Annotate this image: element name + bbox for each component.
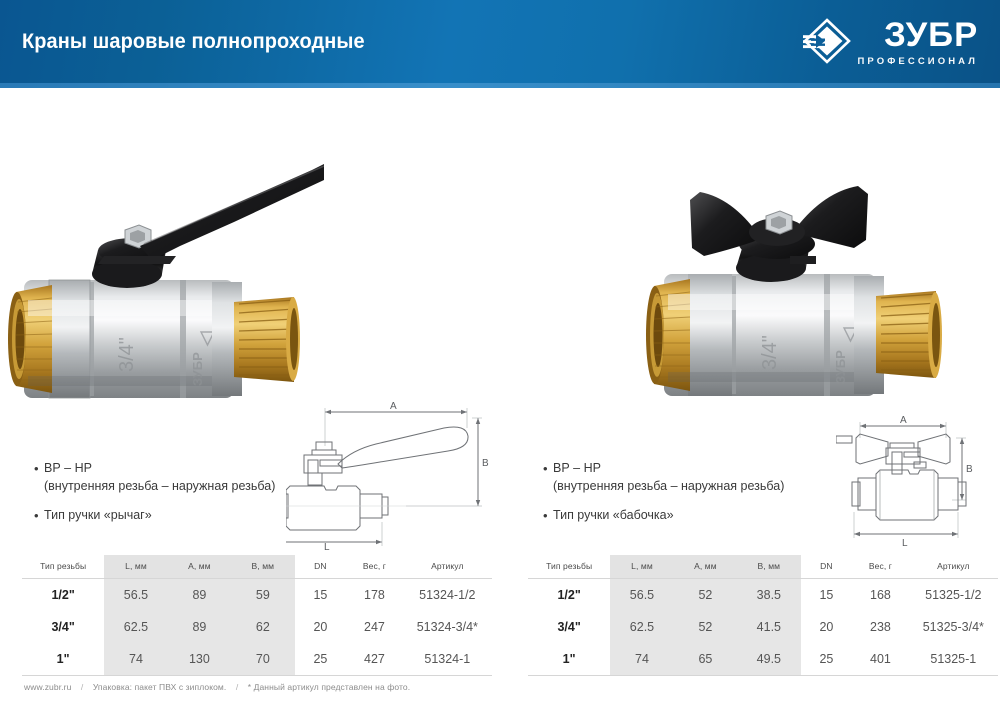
cell-thread: 1" xyxy=(22,643,104,676)
list-item: • Тип ручки «рычаг» xyxy=(34,507,294,525)
svg-text:ЗУБР: ЗУБР xyxy=(190,352,205,386)
dim-label-l: L xyxy=(902,538,908,549)
bullet-point-icon: • xyxy=(34,460,44,496)
cell-b: 41.5 xyxy=(737,611,800,643)
datasheet-page: Краны шаровые полнопроходные ЗУБР ПРОФЕС… xyxy=(0,0,1000,707)
column-header-l: L, мм xyxy=(104,555,167,579)
cell-a: 130 xyxy=(168,643,231,676)
list-item: • ВР – НР (внутренняя резьба – наружная … xyxy=(34,460,294,496)
footer-note: * Данный артикул представлен на фото. xyxy=(248,682,410,692)
column-header-thread: Тип резьбы xyxy=(528,555,610,579)
feature-sub-text: (внутренняя резьба – наружная резьба) xyxy=(553,478,813,496)
list-item: • Тип ручки «бабочка» xyxy=(543,507,813,525)
table-row: 1/2" 56.5 89 59 15 178 51324-1/2 xyxy=(22,579,492,612)
cell-article: 51324-1/2 xyxy=(403,579,492,612)
cell-article: 51325-1/2 xyxy=(909,579,998,612)
dim-label-l: L xyxy=(324,542,330,550)
zubr-diamond-arrow-logo-icon xyxy=(803,18,851,64)
cell-l: 74 xyxy=(104,643,167,676)
cell-article: 51325-1 xyxy=(909,643,998,676)
column-header-article: Артикул xyxy=(403,555,492,579)
cell-article: 51324-1 xyxy=(403,643,492,676)
cell-l: 62.5 xyxy=(104,611,167,643)
dim-label-a: A xyxy=(900,415,907,426)
cell-b: 38.5 xyxy=(737,579,800,612)
cell-dn: 25 xyxy=(801,643,853,676)
cell-l: 74 xyxy=(610,643,673,676)
column-header-b: B, мм xyxy=(737,555,800,579)
cell-weight: 238 xyxy=(852,611,908,643)
page-footer: www.zubr.ru / Упаковка: пакет ПВХ с зипл… xyxy=(24,682,410,692)
table-row: 3/4" 62.5 89 62 20 247 51324-3/4* xyxy=(22,611,492,643)
features-list-lever: • ВР – НР (внутренняя резьба – наружная … xyxy=(34,460,294,535)
feature-sub-text: (внутренняя резьба – наружная резьба) xyxy=(44,478,294,496)
logo-tagline: ПРОФЕССИОНАЛ xyxy=(857,56,978,67)
spec-table-butterfly: Тип резьбы L, мм A, мм B, мм DN Вес, г А… xyxy=(528,555,998,676)
cell-thread: 1/2" xyxy=(528,579,610,612)
page-header: Краны шаровые полнопроходные ЗУБР ПРОФЕС… xyxy=(0,0,1000,88)
cell-weight: 168 xyxy=(852,579,908,612)
footer-website[interactable]: www.zubr.ru xyxy=(24,682,71,692)
cell-weight: 178 xyxy=(346,579,402,612)
cell-a: 89 xyxy=(168,579,231,612)
cell-a: 52 xyxy=(674,611,737,643)
cell-weight: 401 xyxy=(852,643,908,676)
cell-l: 56.5 xyxy=(104,579,167,612)
column-header-l: L, мм xyxy=(610,555,673,579)
cell-weight: 247 xyxy=(346,611,402,643)
logo-text-group: ЗУБР ПРОФЕССИОНАЛ xyxy=(857,18,978,67)
cell-thread: 3/4" xyxy=(528,611,610,643)
cell-b: 59 xyxy=(231,579,294,612)
bullet-point-icon: • xyxy=(543,507,553,525)
cell-b: 70 xyxy=(231,643,294,676)
cell-l: 56.5 xyxy=(610,579,673,612)
feature-main-text: Тип ручки «рычаг» xyxy=(44,508,152,522)
product-photo-lever: 3/4" ЗУБР xyxy=(0,104,324,424)
footer-packaging: Упаковка: пакет ПВХ с зиплоком. xyxy=(93,682,227,692)
cell-l: 62.5 xyxy=(610,611,673,643)
cell-b: 49.5 xyxy=(737,643,800,676)
dim-label-b: B xyxy=(482,458,489,469)
cell-thread: 1/2" xyxy=(22,579,104,612)
svg-text:ЗУБР: ЗУБР xyxy=(833,350,848,384)
column-header-weight: Вес, г xyxy=(346,555,402,579)
cell-dn: 20 xyxy=(801,611,853,643)
cell-thread: 3/4" xyxy=(22,611,104,643)
product-photo-butterfly: 3/4" ЗУБР xyxy=(640,156,950,424)
features-list-butterfly: • ВР – НР (внутренняя резьба – наружная … xyxy=(543,460,813,535)
column-header-a: A, мм xyxy=(674,555,737,579)
spec-table-lever: Тип резьбы L, мм A, мм B, мм DN Вес, г А… xyxy=(22,555,492,676)
cell-dn: 15 xyxy=(295,579,347,612)
footer-separator: / xyxy=(236,682,238,692)
column-header-weight: Вес, г xyxy=(852,555,908,579)
brand-logo: ЗУБР ПРОФЕССИОНАЛ xyxy=(803,18,978,70)
bullet-point-icon: • xyxy=(543,460,553,496)
feature-main-text: Тип ручки «бабочка» xyxy=(553,508,674,522)
lever-valve-dimension-drawing: A B xyxy=(286,398,512,550)
svg-text:3/4": 3/4" xyxy=(759,335,781,370)
cell-weight: 427 xyxy=(346,643,402,676)
cell-dn: 15 xyxy=(801,579,853,612)
dim-label-a: A xyxy=(390,401,397,412)
column-header-b: B, мм xyxy=(231,555,294,579)
cell-article: 51324-3/4* xyxy=(403,611,492,643)
dim-label-b: B xyxy=(966,464,973,475)
svg-text:3/4": 3/4" xyxy=(116,337,138,372)
column-header-thread: Тип резьбы xyxy=(22,555,104,579)
column-header-a: A, мм xyxy=(168,555,231,579)
feature-main-text: ВР – НР xyxy=(553,461,601,475)
logo-wordmark: ЗУБР xyxy=(884,18,978,52)
table-row: 1/2" 56.5 52 38.5 15 168 51325-1/2 xyxy=(528,579,998,612)
feature-main-text: ВР – НР xyxy=(44,461,92,475)
cell-dn: 20 xyxy=(295,611,347,643)
table-row: 3/4" 62.5 52 41.5 20 238 51325-3/4* xyxy=(528,611,998,643)
cell-a: 89 xyxy=(168,611,231,643)
column-header-article: Артикул xyxy=(909,555,998,579)
cell-dn: 25 xyxy=(295,643,347,676)
cell-a: 65 xyxy=(674,643,737,676)
column-header-dn: DN xyxy=(801,555,853,579)
footer-separator: / xyxy=(81,682,83,692)
bullet-point-icon: • xyxy=(34,507,44,525)
cell-b: 62 xyxy=(231,611,294,643)
cell-thread: 1" xyxy=(528,643,610,676)
table-row: 1" 74 65 49.5 25 401 51325-1 xyxy=(528,643,998,676)
table-row: 1" 74 130 70 25 427 51324-1 xyxy=(22,643,492,676)
page-title: Краны шаровые полнопроходные xyxy=(22,30,365,54)
table-header-row: Тип резьбы L, мм A, мм B, мм DN Вес, г А… xyxy=(528,555,998,579)
list-item: • ВР – НР (внутренняя резьба – наружная … xyxy=(543,460,813,496)
cell-a: 52 xyxy=(674,579,737,612)
butterfly-valve-dimension-drawing: A B xyxy=(836,404,996,550)
table-header-row: Тип резьбы L, мм A, мм B, мм DN Вес, г А… xyxy=(22,555,492,579)
column-header-dn: DN xyxy=(295,555,347,579)
cell-article: 51325-3/4* xyxy=(909,611,998,643)
